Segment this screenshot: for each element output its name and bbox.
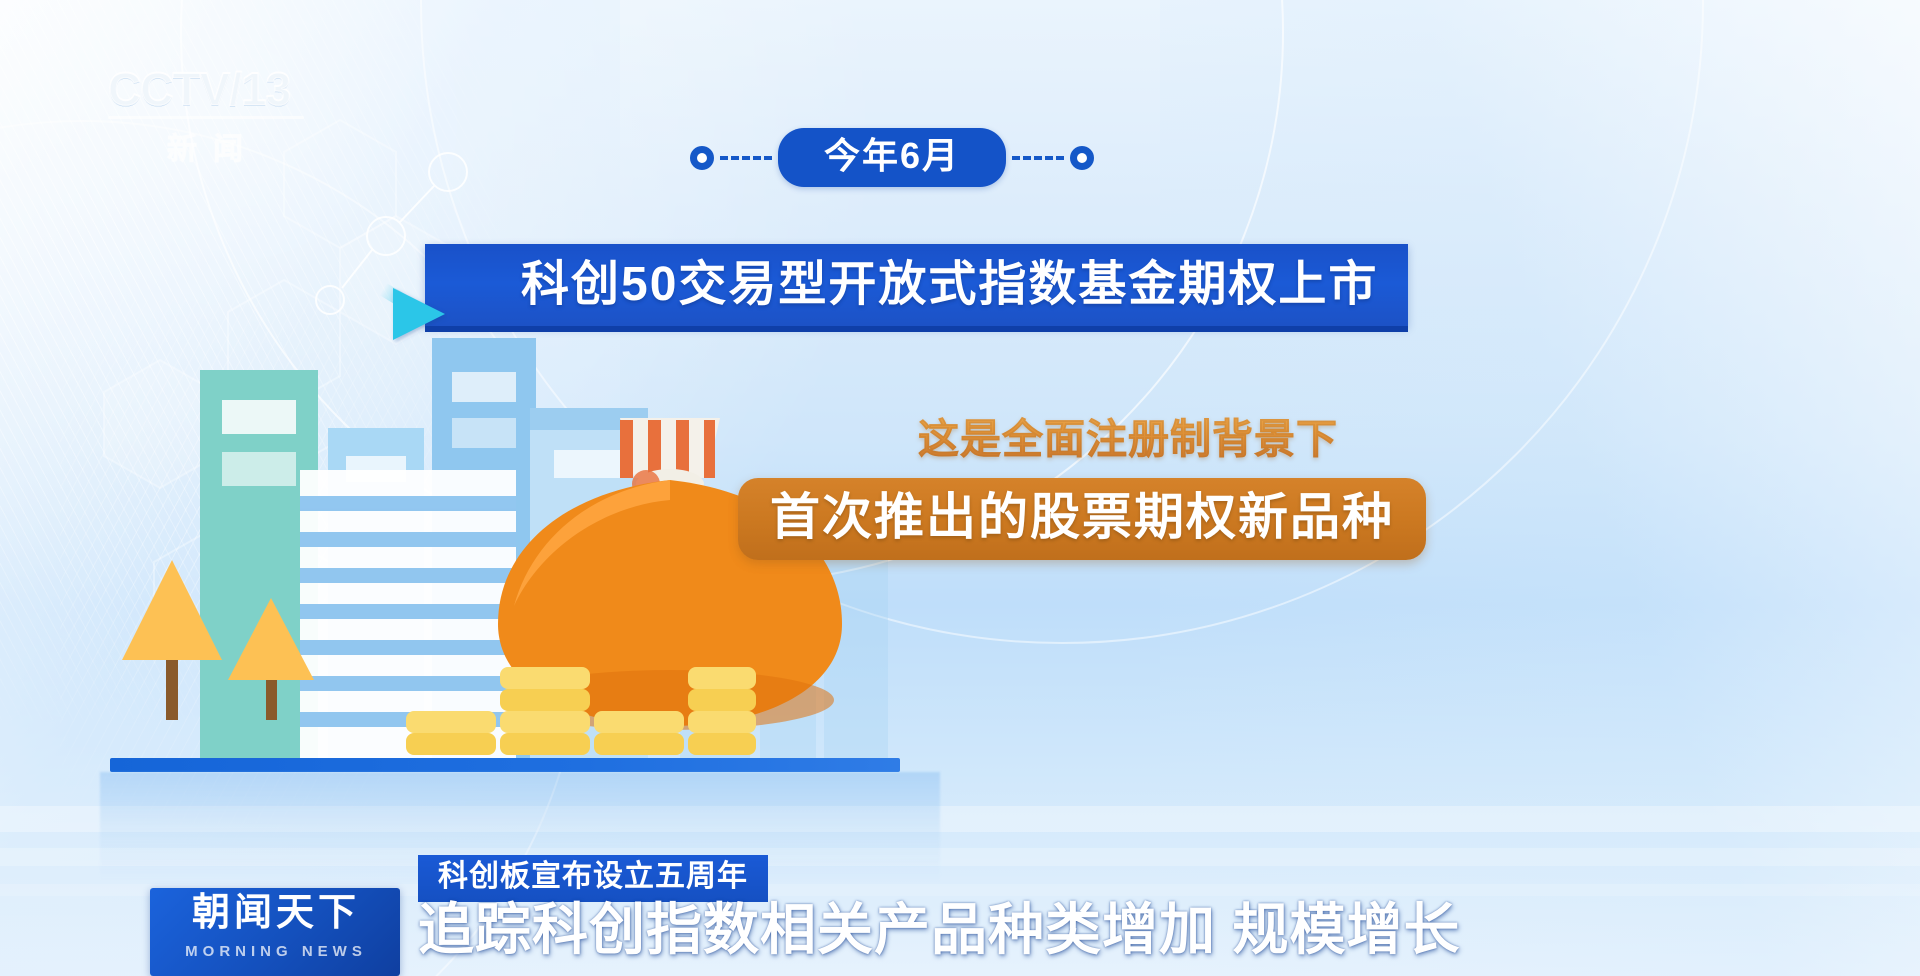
dashed-line-icon — [720, 156, 772, 160]
program-logo-en: MORNING NEWS — [166, 944, 386, 959]
circle-marker-icon — [1070, 146, 1094, 170]
cctv-logo: CCTV/13 新闻 — [108, 66, 318, 166]
date-banner-label: 今年6月 — [778, 128, 1006, 187]
callout-emphasis-badge: 首次推出的股票期权新品种 — [738, 478, 1426, 560]
lower-third-headline: 追踪科创指数相关产品种类增加 规模增长 — [418, 900, 1461, 960]
cctv-logo-main: CCTV/13 — [108, 66, 318, 112]
broadcast-frame: CCTV/13 新闻 今年6月 科创50交易型开放式指数基金期权上市 这是全面注… — [0, 0, 1920, 976]
program-logo-cn: 朝闻天下 — [166, 894, 386, 932]
lower-third-topic-tag: 科创板宣布设立五周年 — [418, 855, 768, 902]
ground-line-icon — [110, 758, 900, 772]
program-logo: 朝闻天下 MORNING NEWS — [150, 888, 400, 976]
triangle-arrow-icon — [393, 288, 445, 340]
dashed-line-icon — [1012, 156, 1064, 160]
headline-text: 科创50交易型开放式指数基金期权上市 — [521, 258, 1378, 311]
cctv-logo-rule — [108, 116, 304, 119]
date-banner: 今年6月 — [690, 128, 1094, 187]
headline-block: 科创50交易型开放式指数基金期权上市 — [425, 244, 1408, 326]
cctv-logo-sub: 新闻 — [108, 124, 318, 168]
callout-lead-line: 这是全面注册制背景下 — [918, 405, 1338, 465]
circle-marker-icon — [690, 146, 714, 170]
headline-bar: 科创50交易型开放式指数基金期权上市 — [425, 244, 1408, 326]
lower-third-topic-text: 科创板宣布设立五周年 — [438, 860, 748, 893]
callout-emphasis-text: 首次推出的股票期权新品种 — [770, 489, 1394, 545]
tree-icon — [118, 540, 338, 740]
